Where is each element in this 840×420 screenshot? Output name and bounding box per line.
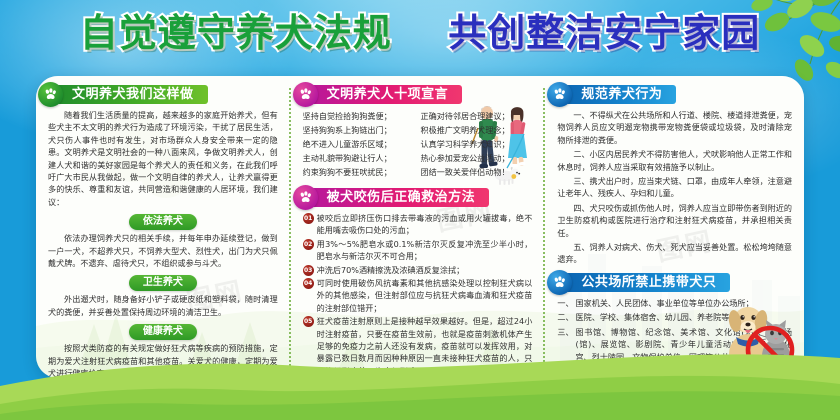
declaration-item: 坚持狗狗系上狗链出门； — [303, 123, 415, 137]
firstaid-item: 02 用3%～5%肥皂水或0.1%新洁尔灭反复冲洗至少半小时，肥皂水与新洁尔灭不… — [303, 238, 533, 263]
section-header-left-1: 文明养犬我们这样做 — [48, 85, 278, 104]
column-regulations: 规范养犬行为 一、不得纵犬在公共场所和人行道、楼院、楼道排泄粪便，宠物饲养人员应… — [545, 76, 804, 378]
left-section-1-text: 依法办理饲养犬只的相关手续，并每年申办延续登记，做到一户一犬，不超养犬只，不饲养… — [48, 232, 278, 269]
declaration-item: 绝不进入儿童游乐区域； — [303, 137, 415, 151]
step-number-badge: 05 — [303, 316, 314, 327]
section-header-mid-2: 被犬咬伤后正确救治方法 — [303, 188, 533, 207]
column-declaration-and-firstaid: 文明养犬人十项宣言 — [291, 76, 544, 378]
behavior-item: 五、饲养人对病犬、伤犬、死犬应当妥善处置。松松垮垮随意遗弃。 — [557, 241, 792, 266]
subtitle-healthy: 健康养犬 — [48, 321, 278, 340]
declaration-item: 积极推广文明养犬理念； — [421, 123, 533, 137]
hill-layer-front — [0, 374, 840, 420]
step-text: 狂犬疫苗注射原则上是接种越早效果越好。但是，超过24小时注射疫苗，只要在疫苗生效… — [317, 315, 533, 378]
subtitle-lawful-1: 依法养犬 — [48, 211, 278, 230]
step-number-badge: 03 — [303, 265, 314, 276]
declaration-item: 正确对待邻居合理建议； — [421, 109, 533, 123]
section-bar-declaration: 文明养犬人十项宣言 — [303, 85, 463, 104]
section-title-civilized: 文明养犬我们这样做 — [72, 85, 194, 104]
behavior-item: 四、犬只咬伤或抓伤他人时，饲养人应当立即带伤者到附近的卫生防疫机构或医院进行治疗… — [557, 202, 792, 239]
step-number-badge: 02 — [303, 239, 314, 250]
section-bar-forbidden: 公共场所禁止携带犬只 — [557, 273, 730, 292]
left-intro-paragraph: 随着我们生活质量的提高，越来越多的家庭开始养犬，但有些犬主不太文明的养犬行为造成… — [48, 109, 278, 208]
step-number-badge: 04 — [303, 278, 314, 289]
item-marker: 四、 — [557, 365, 573, 378]
section-title-forbidden: 公共场所禁止携带犬只 — [581, 273, 716, 292]
step-number-badge: 01 — [303, 213, 314, 224]
headline-left: 自觉遵守养犬法规 — [80, 14, 392, 52]
item-marker: 二、 — [557, 311, 573, 323]
item-marker: 三、 — [557, 326, 573, 363]
section-bar-behavior: 规范养犬行为 — [557, 85, 676, 104]
declaration-column-right: 正确对待邻居合理建议； 积极推广文明养犬理念； 认真学习科学养犬知识； 热心参加… — [421, 109, 533, 179]
paw-icon — [547, 270, 572, 295]
paw-icon — [38, 82, 63, 107]
step-text: 可同时使用破伤风抗毒素和其他抗感染处理以控制狂犬病以外的其他感染，但注射部位应与… — [317, 277, 533, 314]
step-text: 被咬后立即挤压伤口排去带毒液的污血或用火罐拔毒，绝不能用嘴去吸伤口处的污血； — [317, 212, 533, 237]
step-text: 用3%～5%肥皂水或0.1%新洁尔灭反复冲洗至少半小时，肥皂水与新洁尔灭不可合用… — [317, 238, 533, 263]
paw-icon — [547, 82, 572, 107]
section-title-behavior: 规范养犬行为 — [581, 85, 662, 104]
declaration-item: 认真学习科学养犬知识； — [421, 137, 533, 151]
paw-icon — [293, 82, 318, 107]
section-title-firstaid: 被犬咬伤后正确救治方法 — [327, 188, 476, 207]
pill-label: 健康养犬 — [129, 324, 197, 340]
subtitle-hygienic: 卫生养犬 — [48, 272, 278, 291]
behavior-item: 二、小区内居民养犬不得防害他人，犬吠影响他人正常工作和休息时，饲养人应当采取有效… — [557, 148, 792, 173]
section-bar-firstaid: 被犬咬伤后正确救治方法 — [303, 188, 490, 207]
section-header-right-2: 公共场所禁止携带犬只 — [557, 273, 792, 292]
section-bar-civilized: 文明养犬我们这样做 — [48, 85, 208, 104]
pill-label: 依法养犬 — [129, 214, 197, 230]
pill-label: 卫生养犬 — [129, 275, 197, 291]
poster-headline: 自觉遵守养犬法规 共创整洁安宁家园 — [0, 14, 840, 52]
declaration-column-left: 坚持自觉捡拾狗狗粪便； 坚持狗狗系上狗链出门； 绝不进入儿童游乐区域； 主动礼貌… — [303, 109, 415, 179]
behavior-item: 三、携犬出户时，应当束犬链、口罩，由成年人牵领，注意避让老年人、残疾人、孕妇和儿… — [557, 175, 792, 200]
declaration-list: 坚持自觉捡拾狗狗粪便； 坚持狗狗系上狗链出门； 绝不进入儿童游乐区域； 主动礼貌… — [303, 109, 533, 179]
left-section-3-text: 按照犬类防疫的有关规定做好狂犬病等疾病的预防措施，定期为爱犬注射狂犬病疫苗和其他… — [48, 342, 278, 378]
left-section-2-text: 外出遛犬时，随身备好小铲子或硬皮纸和塑料袋，随时清理犬的粪便，并妥善处置保持周边… — [48, 293, 278, 318]
declaration-item: 坚持自觉捡拾狗狗粪便； — [303, 109, 415, 123]
forbidden-item: 四、 除巡游出租汽车、网约车以外的公共交通工具及其室内候车场所； — [557, 365, 726, 378]
firstaid-item: 05 狂犬疫苗注射原则上是接种越早效果越好。但是，超过24小时注射疫苗，只要在疫… — [303, 315, 533, 378]
firstaid-item: 01 被咬后立即挤压伤口排去带毒液的污血或用火罐拔毒，绝不能用嘴去吸伤口处的污血… — [303, 212, 533, 237]
firstaid-item: 03 冲洗后70%酒精擦洗及浓碘酒反复涂拭； — [303, 264, 533, 276]
declaration-item: 热心参加爱宠公益活动； — [421, 151, 533, 165]
content-card: 图网 图网 图网 文明养犬我们 — [36, 76, 804, 378]
step-text: 冲洗后70%酒精擦洗及浓碘酒反复涂拭； — [317, 264, 533, 276]
no-pets-allowed-dog-cat-illustration — [714, 300, 800, 376]
paw-icon — [293, 185, 318, 210]
section-header-right-1: 规范养犬行为 — [557, 85, 792, 104]
behavior-item: 一、不得纵犬在公共场所和人行道、楼院、楼道排泄粪便，宠物饲养人员应文明遛宠物携带… — [557, 109, 792, 146]
headline-right: 共创整洁安宁家园 — [448, 14, 760, 52]
poster-canvas: 自觉遵守养犬法规 共创整洁安宁家园 — [0, 0, 840, 420]
declaration-item: 团结一致关爱伴侣动物！ — [421, 165, 533, 179]
declaration-item: 约束狗狗不要狂吠扰民； — [303, 165, 415, 179]
section-title-declaration: 文明养犬人十项宣言 — [327, 85, 449, 104]
column-civilized-dog-raising: 文明养犬我们这样做 随着我们生活质量的提高，越来越多的家庭开始养犬，但有些犬主不… — [36, 76, 289, 378]
firstaid-item: 04 可同时使用破伤风抗毒素和其他抗感染处理以控制狂犬病以外的其他感染，但注射部… — [303, 277, 533, 314]
item-text: 除巡游出租汽车、网约车以外的公共交通工具及其室内候车场所； — [576, 365, 727, 378]
item-marker: 一、 — [557, 297, 573, 309]
declaration-item: 主动礼貌带狗避让行人； — [303, 151, 415, 165]
